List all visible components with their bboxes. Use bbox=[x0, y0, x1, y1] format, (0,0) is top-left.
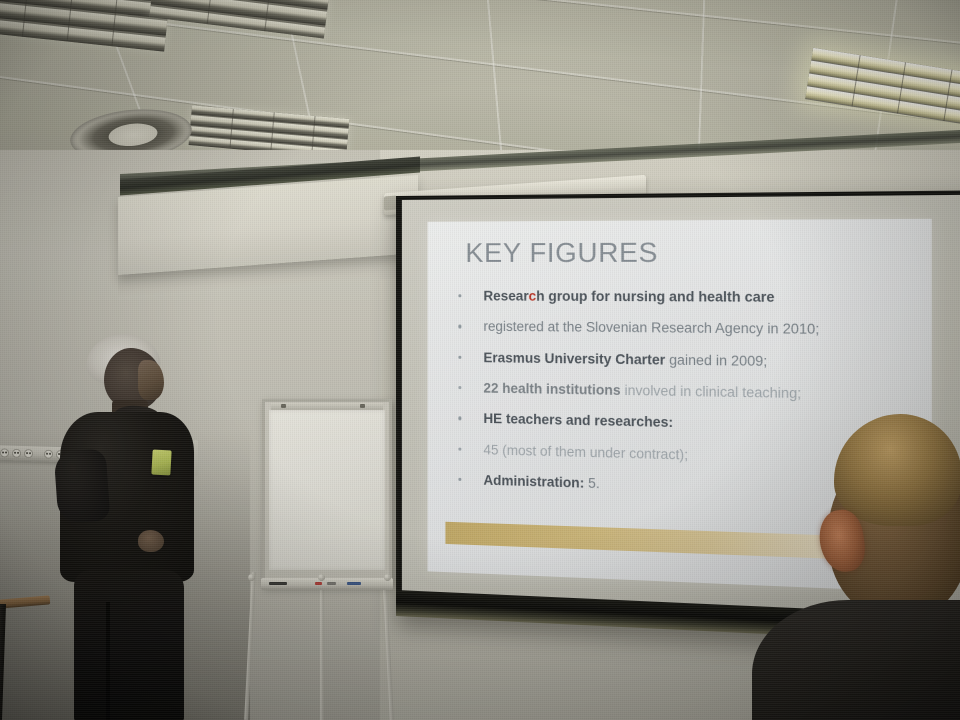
bullet-6-text: 45 (most of them under contract); bbox=[483, 442, 688, 463]
marker-pen-black bbox=[269, 582, 287, 585]
bullet-1-bold-prefix: Resear bbox=[483, 288, 528, 303]
bullet-3-plain: gained in 2009; bbox=[665, 352, 767, 369]
marker-pen-grey bbox=[327, 582, 336, 585]
audience-shoulders bbox=[752, 600, 960, 720]
presenter-name-badge bbox=[151, 450, 171, 476]
bullet-dot-icon bbox=[458, 447, 461, 451]
power-socket[interactable] bbox=[0, 448, 9, 457]
flipchart-board bbox=[262, 399, 392, 587]
flipchart-marker-tray bbox=[261, 578, 393, 590]
flipchart-paper bbox=[269, 410, 385, 570]
bullet-dot-icon bbox=[458, 355, 461, 358]
bullet-3-bold: Erasmus University Charter bbox=[483, 350, 665, 368]
bullet-1-bold-rest: h group for nursing and health care bbox=[536, 288, 774, 305]
bullet-dot-icon bbox=[458, 386, 461, 389]
bullet-7-bold: Administration: bbox=[483, 472, 584, 490]
bullet-4-bold: 22 health institutions bbox=[483, 380, 620, 398]
presenter-hand bbox=[138, 530, 164, 552]
bullet-4-plain: involved in clinical teaching; bbox=[621, 382, 802, 401]
bullet-dot-icon bbox=[458, 325, 461, 328]
lecture-room-photo: KEY FIGURES Research group for nursing a… bbox=[0, 0, 960, 720]
bullet-item-1: Research group for nursing and health ca… bbox=[449, 288, 913, 306]
bullet-item-2: registered at the Slovenian Research Age… bbox=[449, 319, 913, 339]
slide-title: KEY FIGURES bbox=[465, 237, 658, 269]
bullet-1-red-char: c bbox=[529, 288, 537, 303]
bullet-item-3: Erasmus University Charter gained in 200… bbox=[449, 349, 913, 371]
marker-pen-blue bbox=[347, 582, 361, 585]
audience-member bbox=[798, 414, 960, 720]
marker-pen-red bbox=[315, 582, 322, 585]
bullet-5-bold: HE teachers and researches: bbox=[483, 411, 673, 430]
bullet-2-text: registered at the Slovenian Research Age… bbox=[483, 319, 819, 337]
audience-hair bbox=[834, 414, 960, 526]
presenter bbox=[52, 334, 204, 720]
flipchart-knob-center[interactable] bbox=[318, 574, 325, 581]
bullet-dot-icon bbox=[458, 478, 461, 482]
flipchart-knob-left[interactable] bbox=[248, 574, 255, 581]
presenter-sleeve bbox=[54, 448, 111, 523]
presenter-legs bbox=[74, 570, 184, 720]
flipchart-paper-clip bbox=[271, 403, 383, 410]
power-socket[interactable] bbox=[12, 449, 21, 458]
bullet-dot-icon bbox=[458, 417, 461, 420]
bullet-7-plain: 5. bbox=[584, 475, 599, 491]
bullet-item-4: 22 health institutions involved in clini… bbox=[449, 380, 913, 404]
flipchart-leg-center bbox=[320, 572, 324, 720]
presenter-leg-separation bbox=[106, 602, 110, 720]
bullet-dot-icon bbox=[458, 294, 461, 297]
power-socket[interactable] bbox=[24, 449, 33, 458]
flipchart-knob-right[interactable] bbox=[384, 574, 391, 581]
